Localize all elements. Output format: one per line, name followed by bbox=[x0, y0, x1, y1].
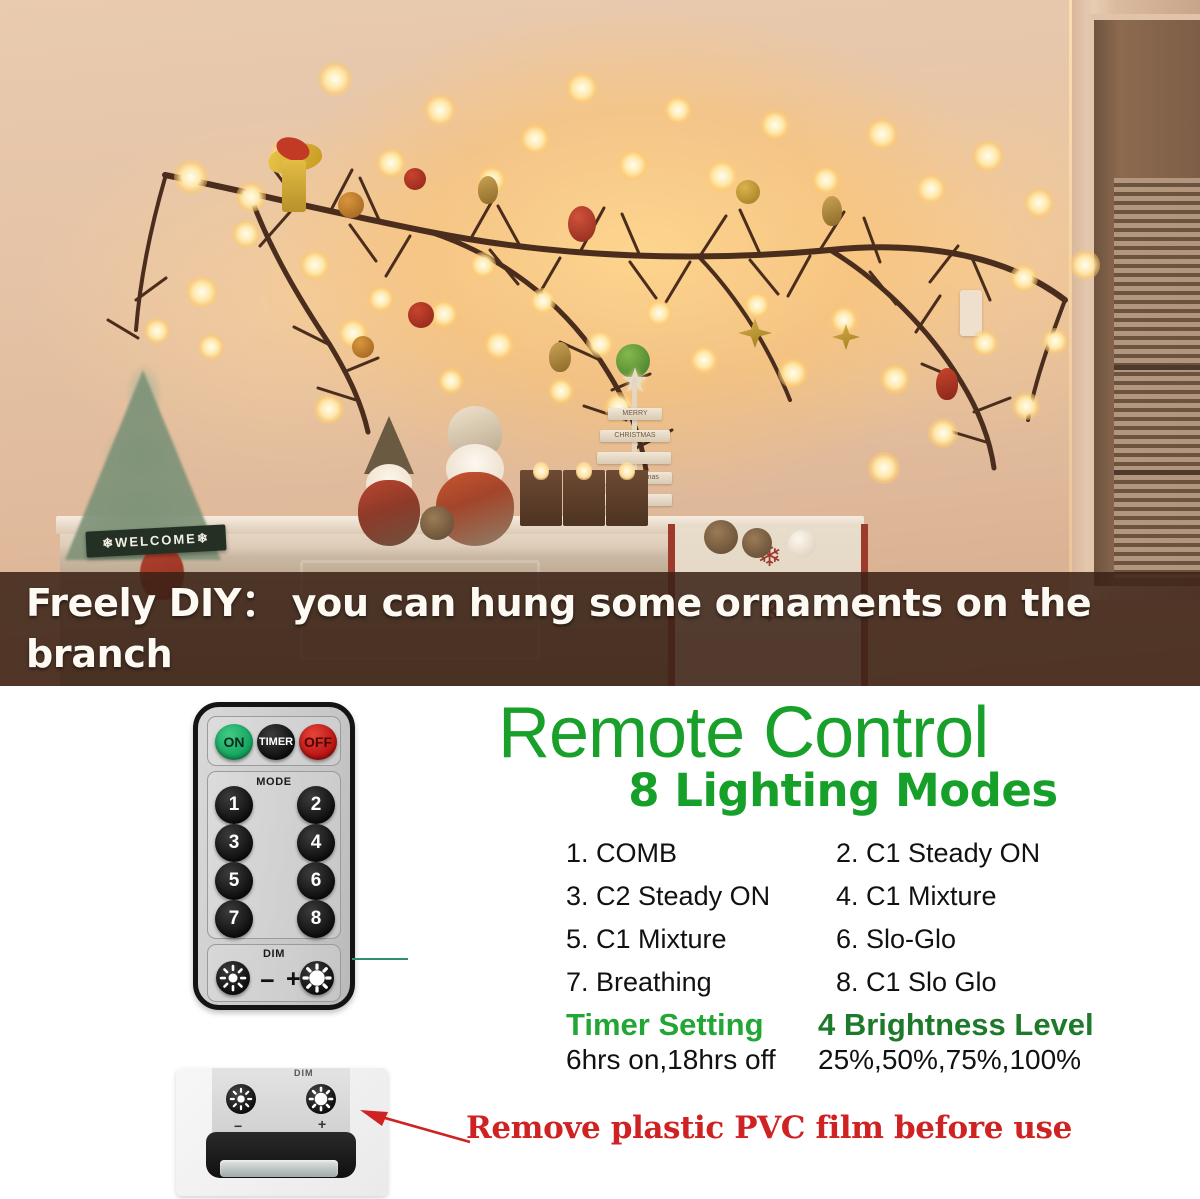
remote-photo-faceplate: DIM − + bbox=[212, 1068, 350, 1142]
off-button[interactable]: OFF bbox=[299, 724, 337, 760]
caption-text: Freely DIY： you can hung some ornaments … bbox=[26, 578, 1176, 686]
remote-control-diagram[interactable]: ON TIMER OFF MODE 1 2 3 4 5 6 7 8 DIM bbox=[193, 702, 355, 1010]
mode-list-item: 7. Breathing bbox=[566, 967, 836, 998]
dim-minus-button[interactable]: − bbox=[260, 969, 275, 994]
red-pinecone-ornament bbox=[936, 368, 958, 400]
pinecone-ornament bbox=[822, 196, 842, 226]
pinecone-decor bbox=[420, 506, 454, 540]
photo-sun-dim-icon bbox=[226, 1084, 256, 1114]
mode-list-item: 6. Slo-Glo bbox=[836, 924, 1126, 955]
led-candle bbox=[520, 470, 562, 526]
led-candle bbox=[606, 470, 648, 526]
red-ball-ornament bbox=[404, 168, 426, 190]
page-subtitle: 8 Lighting Modes bbox=[498, 768, 1188, 813]
dim-button-group: DIM − + bbox=[207, 944, 341, 1002]
mode-list-item: 5. C1 Mixture bbox=[566, 924, 836, 955]
led-candle bbox=[563, 470, 605, 526]
dim-label: DIM bbox=[208, 948, 340, 960]
timer-setting-title: Timer Setting bbox=[566, 1008, 776, 1043]
sign-line: MERRY bbox=[608, 408, 662, 420]
gnome-figurine bbox=[358, 416, 420, 546]
red-ball-ornament bbox=[408, 302, 434, 328]
pinecone-ornament bbox=[549, 342, 571, 372]
brightness-level-title: 4 Brightness Level bbox=[818, 1008, 1094, 1043]
mode-button-3[interactable]: 3 bbox=[215, 824, 253, 862]
pinecone-ornament bbox=[478, 176, 498, 204]
photo-plus-label: + bbox=[318, 1116, 326, 1132]
timer-setting-spec: Timer Setting 6hrs on,18hrs off bbox=[566, 1008, 776, 1076]
mode-button-5[interactable]: 5 bbox=[215, 862, 253, 900]
lifestyle-photo: ❄ ❄ ❄WELCOME❄ ★ MERRY CHRISTMAS Merry ch… bbox=[0, 0, 1200, 686]
dim-plus-button[interactable]: + bbox=[286, 967, 301, 992]
mode-list-item: 2. C1 Steady ON bbox=[836, 838, 1126, 869]
mode-button-4[interactable]: 4 bbox=[297, 824, 335, 862]
page-title: Remote Control bbox=[498, 697, 1188, 769]
brightness-leader-line bbox=[352, 958, 408, 960]
photo-sun-bright-icon bbox=[306, 1084, 336, 1114]
pvc-film-callout: Remove plastic PVC film before use bbox=[466, 1110, 1072, 1146]
gold-ball-ornament bbox=[352, 336, 374, 358]
gold-bow-ornament bbox=[262, 136, 328, 214]
caption-line-1: Freely DIY： you can hung some ornaments … bbox=[26, 578, 1176, 681]
mode-list-item: 1. COMB bbox=[566, 838, 836, 869]
pinecone-decor bbox=[742, 528, 772, 558]
mode-button-6[interactable]: 6 bbox=[297, 862, 335, 900]
gold-ball-ornament bbox=[736, 180, 760, 204]
brightness-level-spec: 4 Brightness Level 25%,50%,75%,100% bbox=[818, 1008, 1094, 1076]
callout-arrow-icon bbox=[352, 1098, 472, 1150]
timer-button[interactable]: TIMER bbox=[257, 724, 295, 760]
pinecone-decor bbox=[704, 520, 738, 554]
sun-bright-icon[interactable] bbox=[300, 961, 334, 995]
timer-setting-value: 6hrs on,18hrs off bbox=[566, 1043, 776, 1076]
mode-button-7[interactable]: 7 bbox=[215, 900, 253, 938]
mode-button-group: MODE 1 2 3 4 5 6 7 8 bbox=[207, 771, 341, 939]
mode-button-8[interactable]: 8 bbox=[297, 900, 335, 938]
lighting-modes-list: 1. COMB 2. C1 Steady ON 3. C2 Steady ON … bbox=[566, 838, 1126, 998]
red-ball-ornament bbox=[568, 206, 596, 242]
sun-dim-icon[interactable] bbox=[216, 961, 250, 995]
mode-list-item: 4. C1 Mixture bbox=[836, 881, 1126, 912]
mode-button-1[interactable]: 1 bbox=[215, 786, 253, 824]
white-ball-decor bbox=[788, 530, 816, 558]
sign-line: CHRISTMAS bbox=[600, 430, 670, 442]
mode-button-2[interactable]: 2 bbox=[297, 786, 335, 824]
photo-dim-label: DIM bbox=[294, 1068, 314, 1078]
mode-list-item: 3. C2 Steady ON bbox=[566, 881, 836, 912]
mode-list-item: 8. C1 Slo Glo bbox=[836, 967, 1126, 998]
on-button[interactable]: ON bbox=[215, 724, 253, 760]
gold-ball-ornament bbox=[338, 192, 364, 218]
pvc-film-tab bbox=[220, 1160, 338, 1177]
power-button-group: ON TIMER OFF bbox=[207, 716, 341, 766]
brightness-level-value: 25%,50%,75%,100% bbox=[818, 1043, 1094, 1076]
